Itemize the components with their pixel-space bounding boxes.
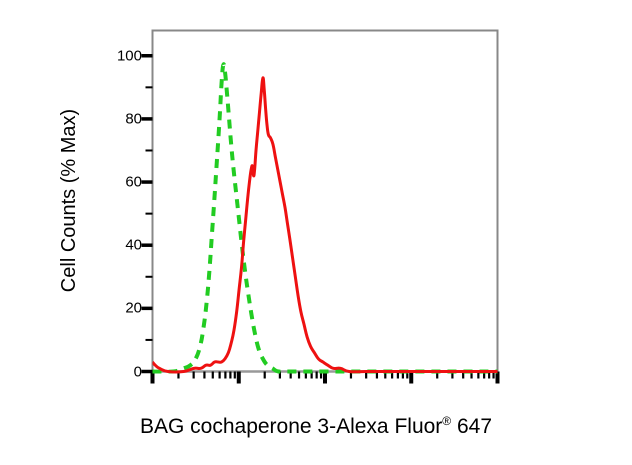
- y-tick-label: 100: [96, 47, 142, 64]
- y-axis-label-text: Cell Counts (% Max): [59, 109, 82, 292]
- y-tick-label: 40: [96, 237, 142, 254]
- y-tick-label: 0: [96, 363, 142, 380]
- series-isotype-control: [153, 64, 498, 372]
- x-axis-label-tail: 647: [451, 415, 492, 438]
- y-tick-label: 60: [96, 174, 142, 191]
- registered-trademark-icon: ®: [442, 414, 451, 428]
- y-tick-label: 20: [96, 300, 142, 317]
- y-axis-label: Cell Counts (% Max): [52, 30, 88, 371]
- flow-cytometry-histogram: 020406080100 Cell Counts (% Max) BAG coc…: [0, 0, 632, 465]
- y-axis-ticks: [142, 56, 153, 372]
- x-axis-label-main: BAG cochaperone 3-Alexa Fluor: [140, 415, 442, 438]
- y-tick-label: 80: [96, 110, 142, 127]
- x-axis-label: BAG cochaperone 3-Alexa Fluor® 647: [0, 415, 632, 439]
- series-sample-stained: [153, 78, 498, 372]
- y-axis-tick-labels: 020406080100: [96, 0, 142, 465]
- plot-area: [0, 0, 632, 465]
